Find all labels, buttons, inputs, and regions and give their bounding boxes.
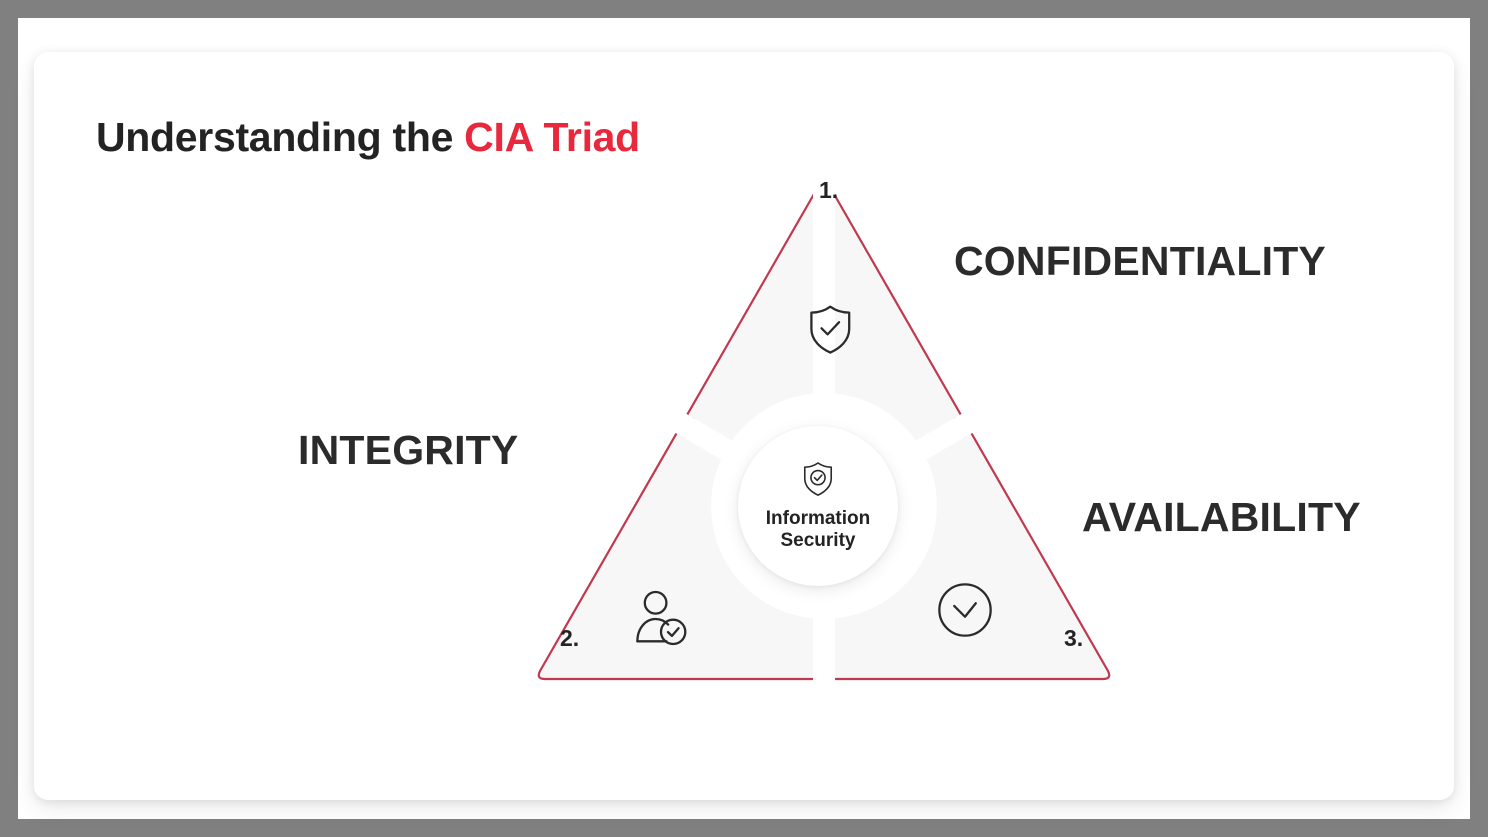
center-hub-label: Information Security bbox=[766, 508, 871, 552]
shield-check-icon-center bbox=[801, 461, 835, 504]
user-check-icon-segment-2 bbox=[637, 592, 685, 644]
page-title: Understanding the CIA Triad bbox=[96, 114, 640, 161]
slide-card: Understanding the CIA Triad bbox=[34, 52, 1454, 800]
title-prefix: Understanding the bbox=[96, 114, 464, 160]
cia-triad-diagram bbox=[34, 52, 1454, 800]
slide-frame: Understanding the CIA Triad bbox=[18, 18, 1470, 819]
circle-check-icon-segment-3 bbox=[939, 584, 990, 635]
title-accent: CIA Triad bbox=[464, 114, 640, 160]
segment-number-2: 2. bbox=[560, 625, 579, 652]
label-integrity: INTEGRITY bbox=[298, 427, 518, 474]
segment-number-1: 1. bbox=[819, 177, 838, 204]
label-confidentiality: CONFIDENTIALITY bbox=[954, 238, 1326, 285]
label-availability: AVAILABILITY bbox=[1082, 494, 1361, 541]
shield-check-icon-segment-1 bbox=[811, 307, 849, 353]
segment-number-3: 3. bbox=[1064, 625, 1083, 652]
center-hub: Information Security bbox=[738, 426, 898, 586]
